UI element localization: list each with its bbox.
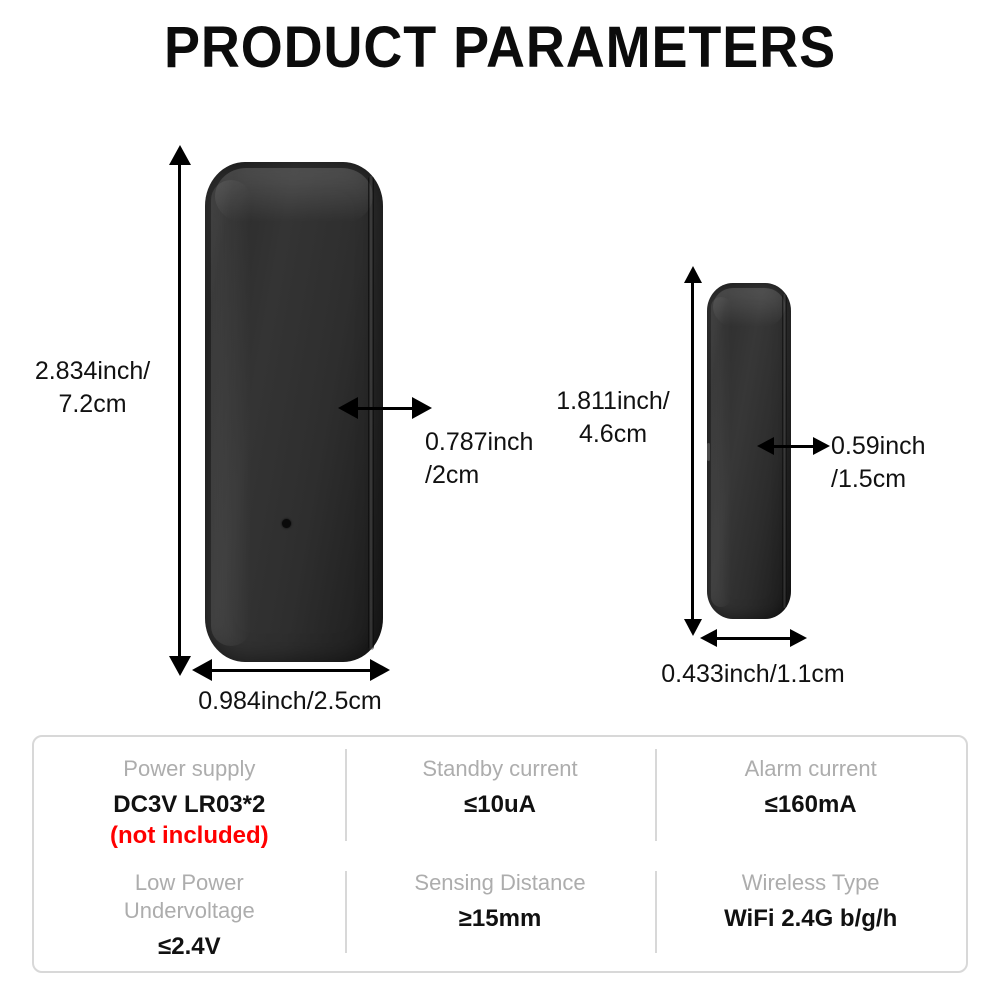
spec-label: Wireless Type: [742, 869, 880, 897]
magnet-unit-seam-line: [782, 294, 787, 608]
door-sensor-main-unit: [205, 162, 410, 662]
main-unit-led-indicator: [282, 519, 291, 528]
spec-cell-standby-current: Standby current ≤10uA: [345, 737, 656, 859]
main-thickness-arrow-head-right: [412, 397, 432, 419]
spec-note-not-included: (not included): [110, 822, 269, 850]
main-height-arrow-head-bottom: [169, 656, 191, 676]
spec-label: Alarm current: [745, 755, 877, 783]
spec-value: WiFi 2.4G b/g/h: [724, 905, 897, 933]
magnet-unit-edge-notch: [707, 443, 710, 461]
spec-value: DC3V LR03*2: [113, 791, 265, 819]
spec-cell-low-power-undervoltage: Low Power Undervoltage ≤2.4V: [34, 859, 345, 971]
spec-label: Low Power Undervoltage: [124, 869, 255, 925]
main-width-dimension-line: [209, 669, 377, 672]
magnet-thickness-label: 0.59inch /1.5cm: [831, 430, 981, 496]
spec-label: Sensing Distance: [414, 869, 585, 897]
main-height-label: 2.834inch/ 7.2cm: [20, 355, 165, 421]
main-thickness-dimension-line: [355, 407, 420, 410]
magnet-height-dimension-line: [691, 281, 694, 623]
spec-value: ≤10uA: [464, 791, 536, 819]
spec-value: ≤160mA: [765, 791, 857, 819]
main-width-label: 0.984inch/2.5cm: [175, 685, 405, 718]
spec-label: Power supply: [123, 755, 255, 783]
main-unit-seam-line: [368, 176, 374, 650]
magnet-thickness-arrow-head-right: [813, 437, 830, 455]
magnet-width-dimension-line: [714, 637, 796, 640]
spec-label: Standby current: [422, 755, 577, 783]
spec-cell-wireless-type: Wireless Type WiFi 2.4G b/g/h: [655, 859, 966, 971]
product-illustration-stage: 2.834inch/ 7.2cm 0.787inch /2cm 0.984inc…: [0, 100, 1000, 725]
spec-cell-alarm-current: Alarm current ≤160mA: [655, 737, 966, 859]
page-title: PRODUCT PARAMETERS: [35, 14, 965, 81]
magnet-width-arrow-head-right: [790, 629, 807, 647]
spec-table-row: Power supply DC3V LR03*2 (not included) …: [34, 737, 966, 859]
main-width-arrow-head-right: [370, 659, 390, 681]
main-height-dimension-line: [178, 162, 181, 662]
spec-table-row: Low Power Undervoltage ≤2.4V Sensing Dis…: [34, 859, 966, 971]
specification-table: Power supply DC3V LR03*2 (not included) …: [32, 735, 968, 973]
spec-value: ≥15mm: [459, 905, 542, 933]
spec-cell-power-supply: Power supply DC3V LR03*2 (not included): [34, 737, 345, 859]
magnet-height-label: 1.811inch/ 4.6cm: [548, 385, 678, 451]
magnet-width-label: 0.433inch/1.1cm: [638, 658, 868, 691]
magnet-unit-front-face: [707, 283, 791, 619]
spec-cell-sensing-distance: Sensing Distance ≥15mm: [345, 859, 656, 971]
spec-value: ≤2.4V: [158, 933, 221, 961]
